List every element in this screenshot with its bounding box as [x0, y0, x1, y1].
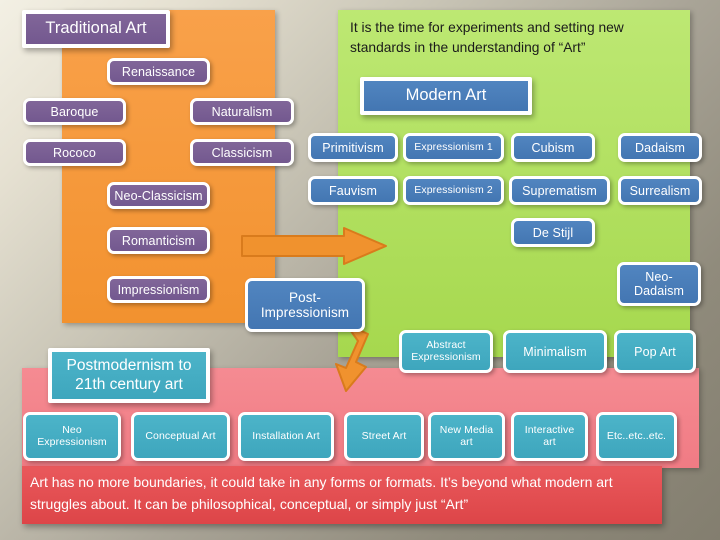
movement-new-media-art[interactable]: New Media art: [428, 412, 505, 461]
postmodernism-title: Postmodernism to 21th century art: [48, 348, 210, 403]
movement-interactive-art[interactable]: Interactive art: [511, 412, 588, 461]
movement-classicism[interactable]: Classicism: [190, 139, 294, 166]
movement-fauvism[interactable]: Fauvism: [308, 176, 398, 205]
movement-minimalism[interactable]: Minimalism: [503, 330, 607, 373]
movement-pop-art[interactable]: Pop Art: [614, 330, 696, 373]
movement-etc[interactable]: Etc..etc..etc.: [596, 412, 677, 461]
postmodernism-caption: Art has no more boundaries, it could tak…: [30, 472, 652, 515]
movement-conceptual-art[interactable]: Conceptual Art: [131, 412, 230, 461]
movement-baroque[interactable]: Baroque: [23, 98, 126, 125]
movement-street-art[interactable]: Street Art: [344, 412, 424, 461]
movement-suprematism[interactable]: Suprematism: [509, 176, 610, 205]
traditional-art-title: Traditional Art: [22, 10, 170, 48]
movement-de-stijl[interactable]: De Stijl: [511, 218, 595, 247]
movement-neo-classicism[interactable]: Neo-Classicism: [107, 182, 210, 209]
movement-surrealism[interactable]: Surrealism: [618, 176, 702, 205]
movement-renaissance[interactable]: Renaissance: [107, 58, 210, 85]
movement-neo-expressionism[interactable]: Neo Expressionism: [23, 412, 121, 461]
movement-romanticism[interactable]: Romanticism: [107, 227, 210, 254]
movement-neo-dadaism[interactable]: Neo-Dadaism: [617, 262, 701, 306]
movement-abstract-expressionism[interactable]: Abstract Expressionism: [399, 330, 493, 373]
slide-canvas: Traditional Art Renaissance Baroque Natu…: [0, 0, 720, 540]
movement-dadaism[interactable]: Dadaism: [618, 133, 702, 162]
movement-expressionism-1[interactable]: Expressionism 1: [403, 133, 504, 162]
down-right-arrow-icon: [330, 322, 398, 394]
movement-naturalism[interactable]: Naturalism: [190, 98, 294, 125]
movement-installation-art[interactable]: Installation Art: [238, 412, 334, 461]
right-arrow-icon: [240, 226, 388, 266]
modern-art-title: Modern Art: [360, 77, 532, 115]
movement-primitivism[interactable]: Primitivism: [308, 133, 398, 162]
movement-impressionism[interactable]: Impressionism: [107, 276, 210, 303]
modern-art-caption: It is the time for experiments and setti…: [350, 18, 680, 58]
movement-rococo[interactable]: Rococo: [23, 139, 126, 166]
movement-expressionism-2[interactable]: Expressionism 2: [403, 176, 504, 205]
movement-post-impressionism[interactable]: Post-Impressionism: [245, 278, 365, 332]
movement-cubism[interactable]: Cubism: [511, 133, 595, 162]
